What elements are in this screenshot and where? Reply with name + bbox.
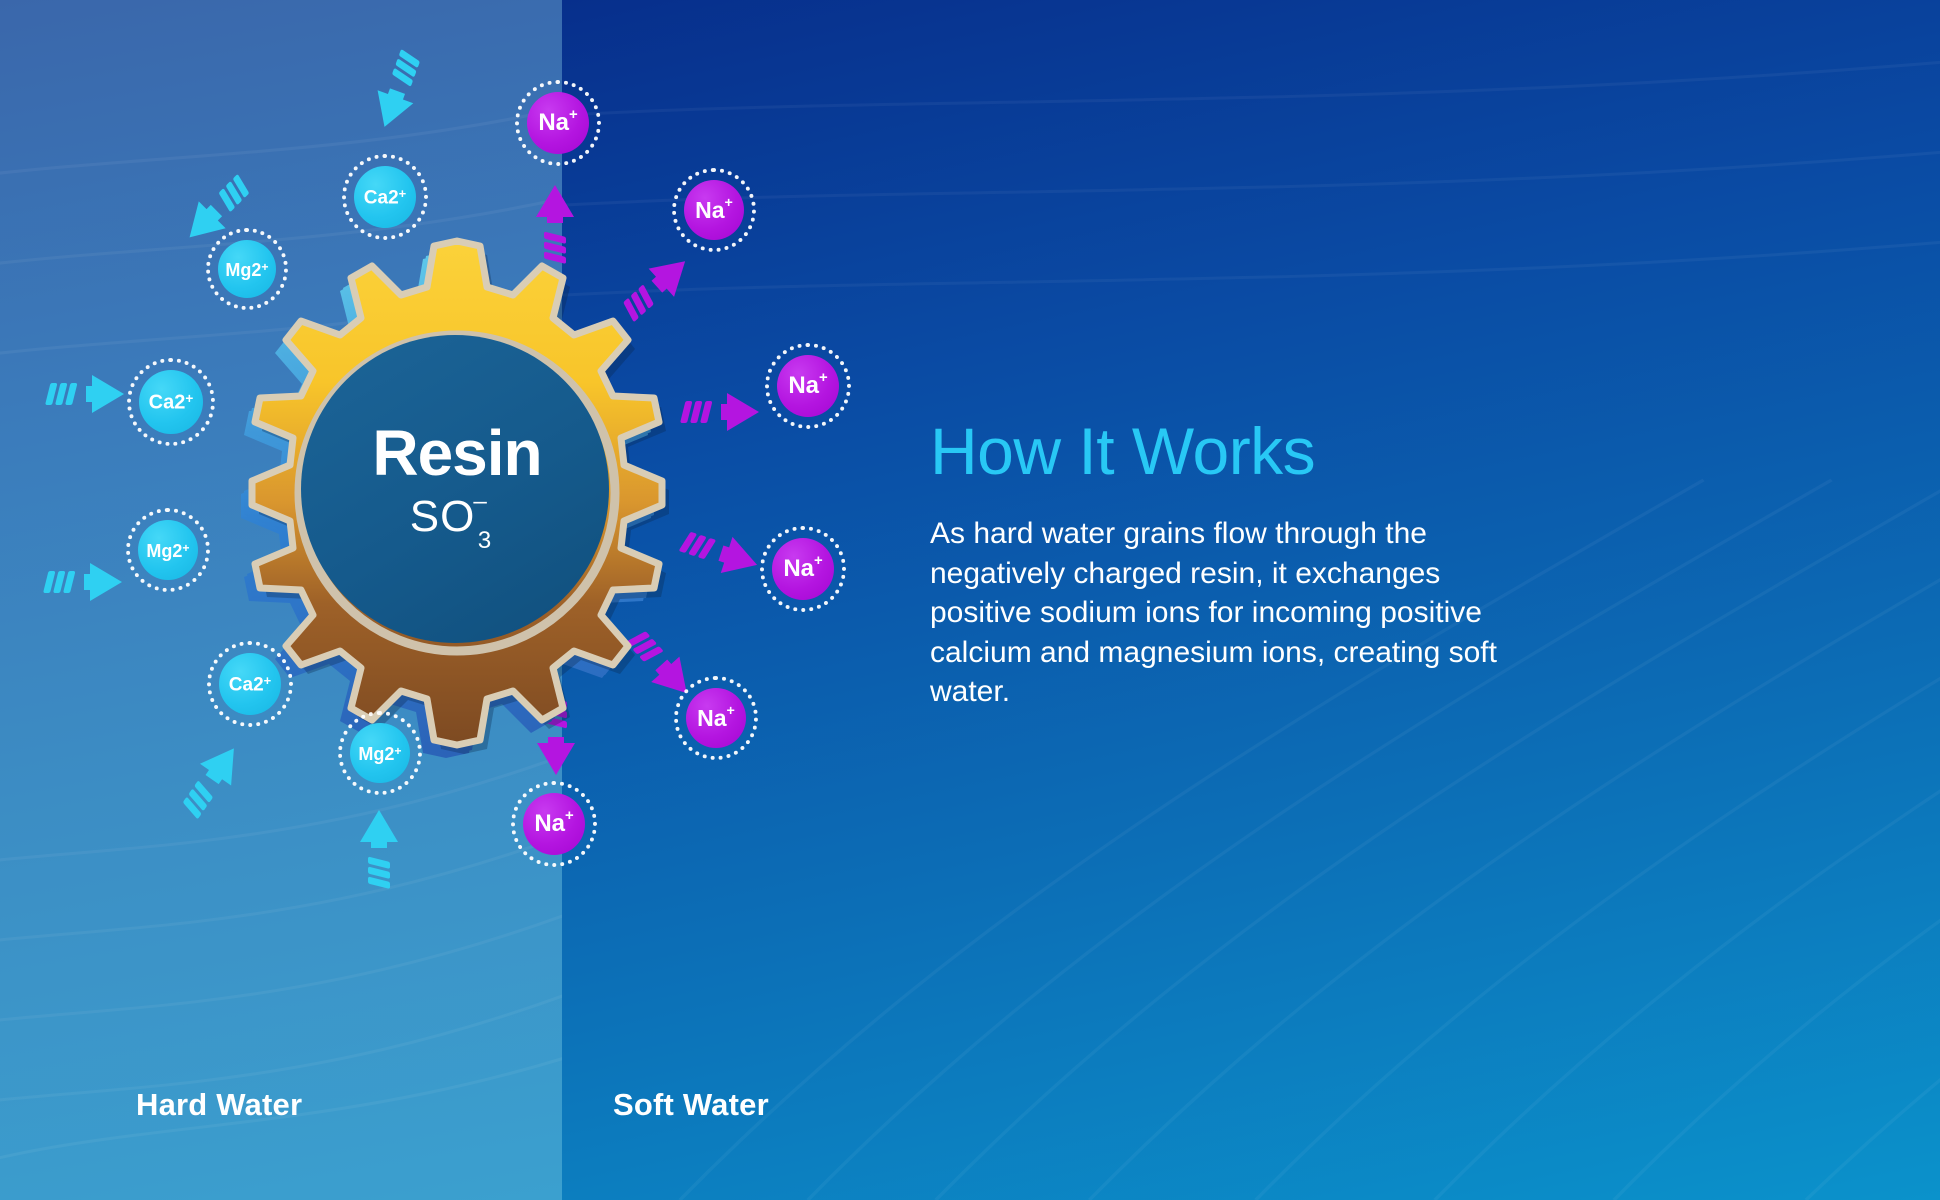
- sodium-ion-right[interactable]: Na+: [777, 355, 839, 417]
- panel-title: How It Works: [930, 418, 1510, 484]
- ion-charge: +: [725, 195, 733, 211]
- ion-label: Na+: [695, 197, 733, 224]
- ion-label: Na+: [783, 555, 822, 583]
- sodium-ion-lower-right[interactable]: Na+: [772, 538, 834, 600]
- ion-charge: +: [569, 107, 578, 123]
- calcium-ion-bottom[interactable]: Ca2+: [219, 653, 281, 715]
- ion-label: Ca2+: [229, 671, 271, 696]
- sodium-ion-bottom[interactable]: Na+: [523, 793, 585, 855]
- ion-label: Na+: [534, 810, 573, 838]
- inflow-arrow-bottom: [350, 786, 408, 872]
- sodium-ion-lower[interactable]: Na+: [686, 688, 746, 748]
- ion-label: Mg2+: [146, 539, 189, 562]
- ion-label: Mg2+: [225, 258, 268, 281]
- ion-label: Mg2+: [358, 742, 401, 765]
- infographic-canvas: Resin SO–3 Ca2+Mg2+Ca2+Mg2+Ca2+Mg2+ Na+N…: [0, 0, 1940, 1200]
- calcium-ion-top[interactable]: Ca2+: [354, 166, 416, 228]
- ion-label: Na+: [788, 372, 827, 400]
- magnesium-ion-upper[interactable]: Mg2+: [218, 240, 276, 298]
- ion-label: Ca2+: [149, 389, 194, 415]
- ion-charge: +: [394, 744, 401, 758]
- ion-charge: +: [399, 186, 407, 201]
- ion-charge: +: [182, 541, 189, 555]
- ion-charge: +: [727, 703, 735, 719]
- calcium-ion-left[interactable]: Ca2+: [139, 370, 203, 434]
- ion-charge: +: [261, 260, 268, 274]
- ion-charge: +: [814, 553, 823, 569]
- ion-charge: +: [565, 808, 574, 824]
- panel-body-text: As hard water grains flow through the ne…: [930, 514, 1510, 712]
- ion-label: Na+: [697, 705, 735, 732]
- ion-charge: +: [819, 370, 828, 386]
- ion-charge: +: [185, 391, 193, 406]
- how-it-works-panel: How It Works As hard water grains flow t…: [930, 418, 1510, 712]
- magnesium-ion-bottom[interactable]: Mg2+: [350, 723, 410, 783]
- sodium-ion-upper-right[interactable]: Na+: [684, 180, 744, 240]
- ion-charge: +: [264, 673, 272, 688]
- gear-hub: [301, 335, 609, 643]
- ion-label: Ca2+: [364, 184, 406, 209]
- ion-label: Na+: [538, 109, 577, 137]
- sodium-ion-top[interactable]: Na+: [527, 92, 589, 154]
- magnesium-ion-lower[interactable]: Mg2+: [138, 520, 198, 580]
- soft-water-label: Soft Water: [613, 1087, 769, 1123]
- hard-water-label: Hard Water: [136, 1087, 302, 1123]
